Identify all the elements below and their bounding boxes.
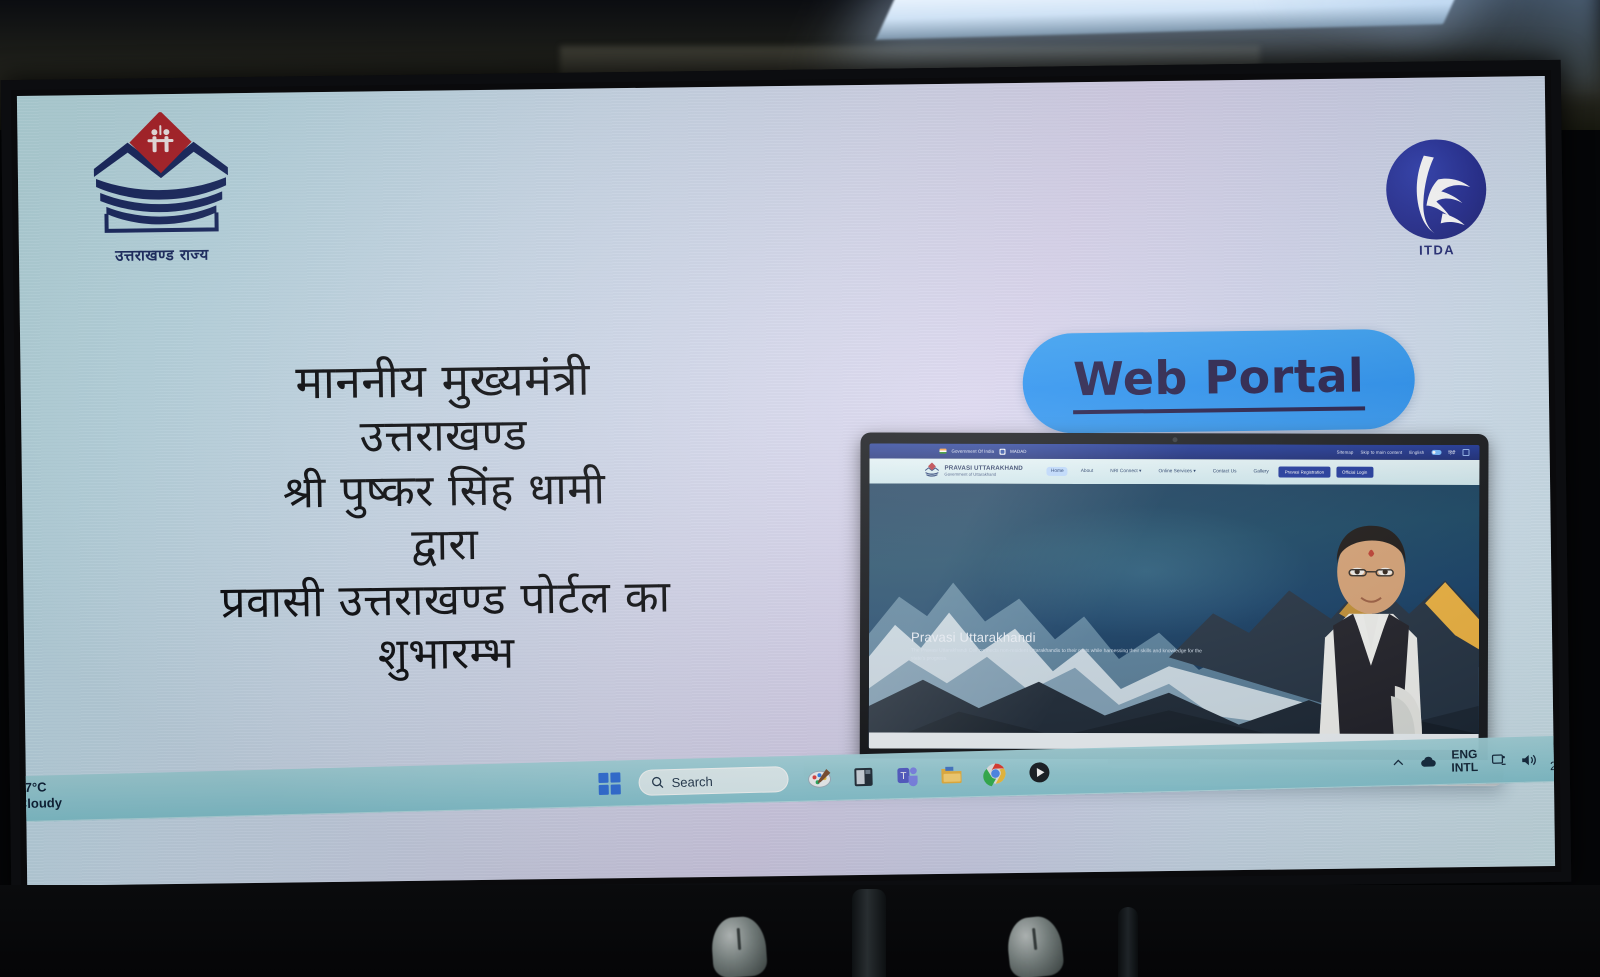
site-main-nav: PRAVASI UTTARAKHAND Government of Uttara…: [869, 458, 1479, 485]
media-player-icon[interactable]: [1026, 759, 1053, 786]
nav-item-online-services[interactable]: Online Services ▾: [1154, 467, 1199, 476]
headline-line-1: माननीय मुख्यमंत्री: [92, 348, 793, 414]
volume-icon[interactable]: [1520, 752, 1537, 767]
site-brand[interactable]: PRAVASI UTTARAKHAND Government of Uttara…: [923, 463, 1023, 480]
itda-circle-icon: [1386, 139, 1487, 240]
chrome-browser-icon[interactable]: [982, 760, 1009, 787]
microphone-stand-secondary: [1118, 907, 1138, 977]
photographed-room-scene: उत्तराखण्ड राज्य ITDA माननीय मु: [0, 0, 1600, 977]
microphone-stand: [852, 889, 886, 977]
official-login-button[interactable]: Official Login: [1336, 467, 1373, 478]
web-portal-label: Web Portal: [1073, 348, 1365, 414]
pravasi-registration-button[interactable]: Pravasi Registration: [1279, 467, 1330, 478]
sitemap-link[interactable]: Sitemap: [1337, 450, 1354, 455]
taskbar-weather-widget[interactable]: 27°C Cloudy: [17, 779, 62, 813]
site-brand-subtitle: Government of Uttarakhand: [944, 472, 1022, 477]
headline-line-6: शुभारम्भ: [96, 623, 797, 687]
web-portal-badge: Web Portal: [1022, 329, 1415, 434]
file-explorer-icon[interactable]: [938, 761, 965, 788]
skip-to-main-content-link[interactable]: Skip to main content: [1360, 450, 1402, 455]
hero-subtitle: The Pravasi Uttarakhandi Cell connects n…: [911, 648, 1211, 664]
india-flag-icon: [939, 449, 946, 454]
laptop-screen: Government Of India MADAD Sitemap Skip t…: [869, 443, 1480, 750]
svg-text:T: T: [900, 771, 906, 782]
laptop-lid: Government Of India MADAD Sitemap Skip t…: [860, 432, 1489, 766]
input-language-indicator[interactable]: ENG INTL: [1451, 748, 1478, 775]
network-icon[interactable]: [1491, 752, 1507, 768]
headline-line-2: उत्तराखण्ड: [93, 405, 794, 469]
madad-link[interactable]: MADAD: [1010, 449, 1026, 454]
nav-item-list: Home About NRI Connect ▾ Online Services…: [1047, 467, 1273, 477]
site-utility-bar: Government Of India MADAD Sitemap Skip t…: [869, 443, 1479, 460]
nav-item-home[interactable]: Home: [1047, 467, 1068, 476]
onedrive-cloud-icon[interactable]: [1418, 755, 1438, 770]
notepad-app-icon[interactable]: [850, 764, 877, 791]
laptop-webcam-icon: [1173, 437, 1178, 442]
government-of-india-link[interactable]: Government Of India: [951, 449, 994, 454]
nav-item-gallery[interactable]: Gallery: [1250, 467, 1273, 476]
teams-app-icon[interactable]: T: [894, 763, 921, 790]
slide-headline: माननीय मुख्यमंत्री उत्तराखण्ड श्री पुष्क…: [92, 348, 796, 687]
language-toggle-switch[interactable]: [1431, 450, 1441, 455]
search-placeholder-text: Search: [671, 773, 713, 789]
room-foreground-dark: [0, 885, 1600, 977]
chief-minister-portrait: [1291, 510, 1452, 750]
paint-app-icon[interactable]: [806, 765, 833, 792]
pravasi-uttarakhand-website: Government Of India MADAD Sitemap Skip t…: [869, 443, 1480, 750]
itda-caption: ITDA: [1379, 242, 1495, 259]
language-english-label[interactable]: English: [1409, 450, 1424, 455]
hero-text-block: Pravasi Uttarakhandi The Pravasi Uttarak…: [911, 630, 1211, 664]
itda-logo: ITDA: [1378, 139, 1496, 263]
language-layout: INTL: [1451, 761, 1478, 775]
clock-date: 28-09-2024: [1550, 757, 1555, 773]
taskbar-search-box[interactable]: Search: [638, 766, 789, 796]
nav-item-contact-us[interactable]: Contact Us: [1209, 467, 1241, 476]
chevron-up-icon[interactable]: [1391, 756, 1405, 770]
accessibility-icon[interactable]: [1462, 449, 1469, 456]
nav-item-about[interactable]: About: [1077, 467, 1098, 476]
site-hero-banner: Pravasi Uttarakhandi The Pravasi Uttarak…: [869, 483, 1480, 750]
headline-line-5: प्रवासी उत्तराखण्ड पोर्टल का: [95, 569, 796, 633]
uttarakhand-state-emblem-icon: उत्तराखण्ड राज्य: [75, 111, 247, 263]
search-icon: [650, 775, 664, 789]
taskbar-clock[interactable]: 12:14 28-09-2024: [1550, 743, 1556, 773]
weather-temperature: 27°C: [17, 779, 61, 796]
madad-icon: [999, 448, 1005, 454]
windows-start-icon[interactable]: [598, 772, 621, 795]
taskbar-center-group: Search: [598, 759, 1053, 797]
site-emblem-icon: [923, 463, 940, 480]
hero-title: Pravasi Uttarakhandi: [911, 630, 1211, 646]
nav-item-nri-connect[interactable]: NRI Connect ▾: [1106, 467, 1145, 476]
presentation-display-bezel: उत्तराखण्ड राज्य ITDA माननीय मु: [1, 60, 1572, 902]
taskbar-system-tray: ENG INTL 12:14 28-09: [1391, 743, 1555, 777]
emblem-caption: उत्तराखण्ड राज्य: [77, 244, 247, 266]
headline-line-3: श्री पुष्कर सिंह धामी: [94, 459, 795, 523]
headline-line-4: द्वारा: [94, 514, 795, 578]
presentation-display-screen: उत्तराखण्ड राज्य ITDA माननीय मु: [17, 76, 1555, 886]
clock-time: 12:14: [1550, 743, 1556, 759]
weather-condition: Cloudy: [18, 795, 62, 812]
language-hindi-label[interactable]: हिंदी: [1448, 449, 1455, 455]
